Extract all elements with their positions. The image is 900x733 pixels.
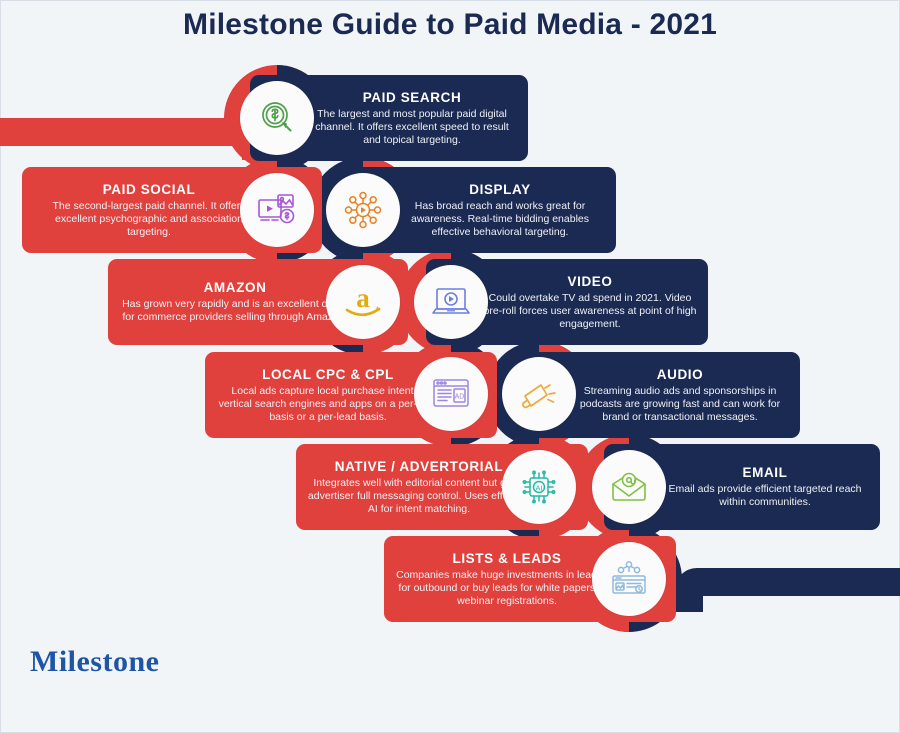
card-title-video: VIDEO [567,274,612,289]
node-native-advertorial[interactable]: AI [502,450,576,524]
svg-text:AI: AI [535,484,542,493]
card-title-lists-leads: LISTS & LEADS [452,551,561,566]
amazon-smile-icon: a [341,282,385,322]
video-media-dollar-icon [256,190,298,230]
card-title-local-cpc-cpl: LOCAL CPC & CPL [262,367,394,382]
milestone-logo: Milestone [30,645,159,679]
laptop-play-icon [430,282,472,322]
browser-ad-icon: AD [430,374,472,414]
envelope-at-icon [608,467,650,507]
ribbon-navy-exit [675,568,900,612]
node-display[interactable] [326,173,400,247]
card-title-email: EMAIL [743,465,788,480]
card-description-video: Could overtake TV ad spend in 2021. Vide… [472,292,708,331]
card-title-display: DISPLAY [469,182,530,197]
card-description-paid-search: The largest and most popular paid digita… [296,108,528,147]
card-description-audio: Streaming audio ads and sponsorships in … [560,385,800,424]
dollar-magnifier-icon [257,98,297,138]
card-title-amazon: AMAZON [204,280,267,295]
svg-text:AD: AD [455,394,465,401]
node-email[interactable] [592,450,666,524]
svg-text:a: a [356,283,370,313]
node-local-cpc-cpl[interactable]: AD [414,357,488,431]
card-title-audio: AUDIO [657,367,704,382]
card-description-paid-social: The second-largest paid channel. It offe… [22,200,276,239]
network-hub-play-icon [343,190,383,230]
megaphone-icon [518,374,560,414]
card-title-paid-social: PAID SOCIAL [103,182,196,197]
card-title-native-advertorial: NATIVE / ADVERTORIAL [335,459,504,474]
contact-list-icon [608,559,650,599]
node-lists-leads[interactable] [592,542,666,616]
node-paid-social[interactable] [240,173,314,247]
card-description-amazon: Has grown very rapidly and is an excelle… [108,298,362,324]
node-paid-search[interactable] [240,81,314,155]
card-description-display: Has broad reach and works great for awar… [384,200,616,239]
card-description-email: Email ads provide efficient targeted rea… [650,483,880,509]
node-amazon[interactable]: a [326,265,400,339]
node-video[interactable] [414,265,488,339]
card-title-paid-search: PAID SEARCH [363,90,462,105]
node-audio[interactable] [502,357,576,431]
ai-chip-icon: AI [518,467,560,507]
